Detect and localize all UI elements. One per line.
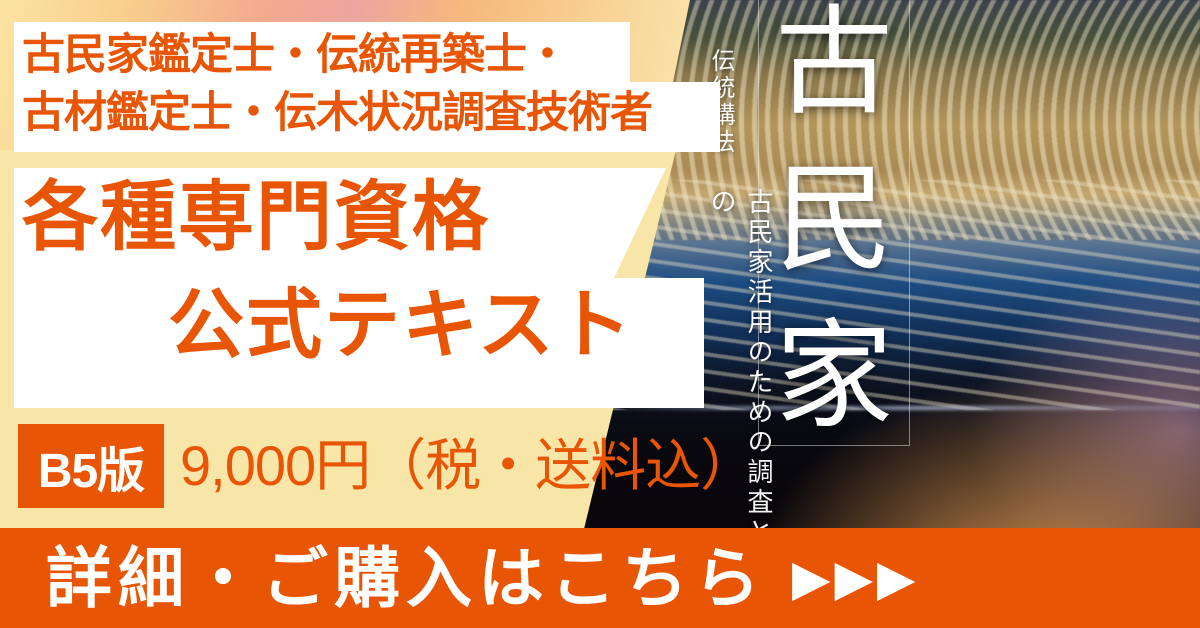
headline-line-1: 各種専門資格 bbox=[22, 180, 490, 256]
book-cover-title-char-3: 家 bbox=[775, 320, 893, 436]
book-cover-title-char-2: 民 bbox=[775, 163, 893, 279]
triple-chevron-right-icon: ▶▶▶ bbox=[792, 553, 919, 603]
price-label: 9,000円（税・送料込） bbox=[180, 428, 755, 504]
cta-bar[interactable]: 詳細・ご購入はこちら ▶▶▶ bbox=[0, 528, 1200, 628]
book-cover-title-char-1: 古 bbox=[775, 6, 893, 122]
cta-label: 詳細・ご購入はこちら bbox=[46, 545, 766, 611]
headline-line-2: 公式テキスト bbox=[168, 288, 634, 364]
format-badge: B5版 bbox=[18, 424, 164, 508]
promo-banner: 伝統構法 古民家活用のための調査と再生の 古 民 家 古民家鑑定士・伝統再築士・… bbox=[0, 0, 1200, 628]
book-cover-title: 古 民 家 bbox=[760, 6, 908, 436]
certification-subtitle: 古民家鑑定士・伝統再築士・ 古材鑑定士・伝木状況調査技術者 bbox=[22, 26, 722, 142]
